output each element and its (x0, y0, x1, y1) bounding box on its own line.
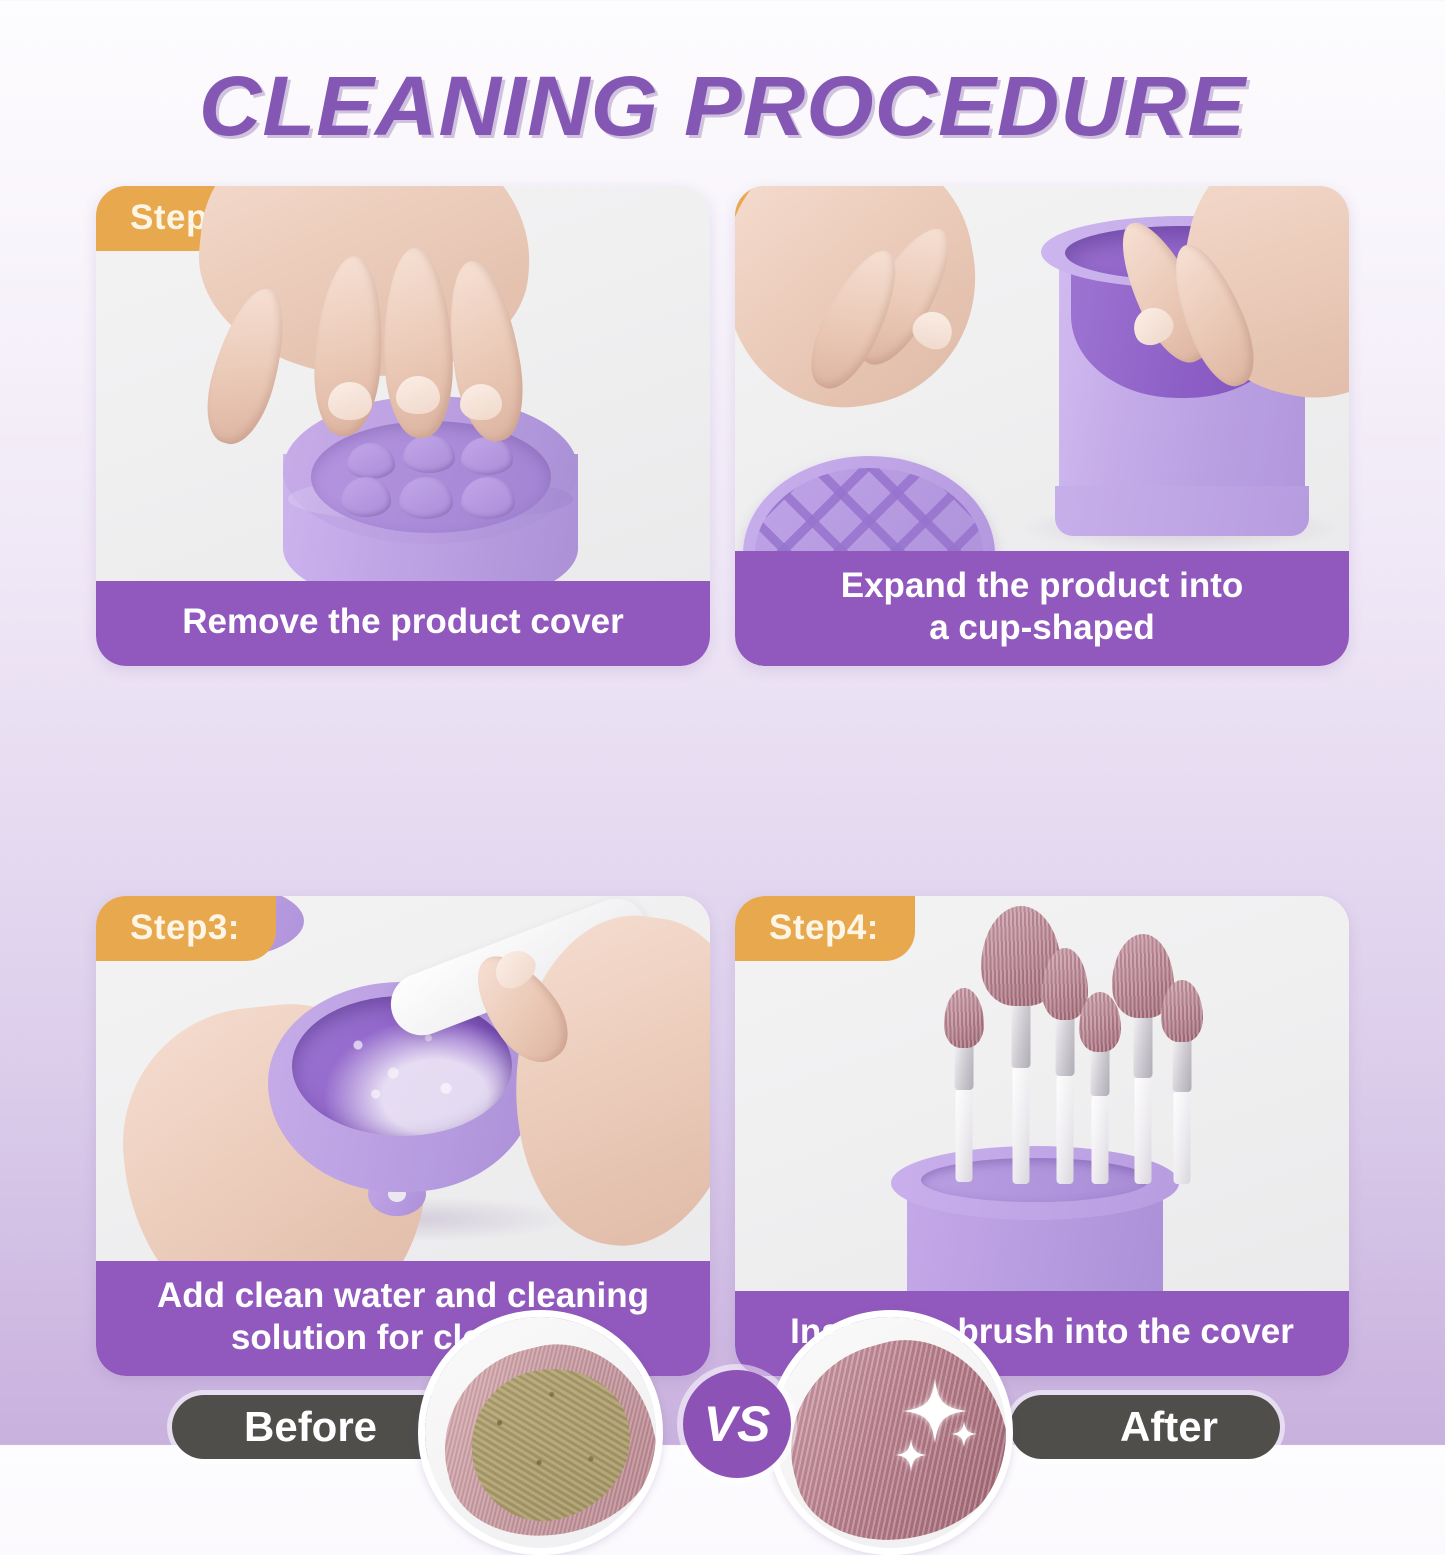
brush (949, 992, 979, 1182)
brush-handle (1013, 1064, 1030, 1184)
after-brush-photo (768, 1310, 1013, 1555)
brush-ferrule (1091, 1046, 1110, 1096)
step-badge-3: Step3: (96, 896, 276, 961)
brush-handle (1092, 1092, 1109, 1184)
caption-line: Expand the product into (753, 565, 1331, 608)
before-after-comparison: Before After VS (0, 655, 1445, 900)
fingernail (328, 382, 372, 420)
sparkle-icon-small (895, 1439, 927, 1471)
step-card-4: Step4: Insert the brush into the cover (735, 896, 1349, 1376)
lid-pod (341, 477, 391, 517)
after-label-pill: After (1010, 1395, 1280, 1459)
step-card-2: Step2: Expand the product into a cup-sha… (735, 186, 1349, 666)
fingernail (460, 384, 502, 420)
brush-ferrule (955, 1042, 974, 1090)
brush-handle (956, 1086, 973, 1182)
lid-pod (399, 477, 453, 519)
brush-bristles (1161, 980, 1203, 1042)
page-header: CLEANING PROCEDURE (0, 58, 1445, 155)
brush-ferrule (1134, 1012, 1153, 1078)
caption-line: a cup-shaped (753, 607, 1331, 650)
after-label: After (1120, 1403, 1218, 1451)
brush (1119, 940, 1167, 1184)
cup-lid (311, 421, 551, 533)
brush (1047, 954, 1083, 1184)
brush (991, 904, 1051, 1184)
fingernail (396, 376, 440, 414)
brush-ferrule (1173, 1036, 1192, 1092)
before-brush-photo (418, 1310, 663, 1555)
step-card-1: Step1: Remove the product cover (96, 186, 710, 666)
step-badge-4: Step4: (735, 896, 915, 961)
lid-pod (347, 443, 395, 479)
caption-line: Add clean water and cleaning (114, 1275, 692, 1318)
brush-handle (1135, 1074, 1152, 1184)
step-caption-1: Remove the product cover (96, 581, 710, 666)
page-title: CLEANING PROCEDURE (0, 58, 1445, 155)
lid-pod (461, 437, 513, 475)
brush-ferrule (1012, 996, 1031, 1068)
step-card-3: Step3: Add clean water and cleaning solu… (96, 896, 710, 1376)
lid-pod (461, 477, 515, 519)
cup-foot (1055, 486, 1309, 536)
brush-bristles (944, 988, 984, 1048)
brush-ferrule (1056, 1014, 1075, 1076)
step-caption-2: Expand the product into a cup-shaped (735, 551, 1349, 666)
brush-handle (1174, 1088, 1191, 1184)
brush (1165, 986, 1199, 1184)
vs-badge: VS (683, 1370, 791, 1478)
sparkle-icon-small (951, 1421, 977, 1447)
before-label: Before (244, 1403, 377, 1451)
brush (1083, 998, 1117, 1184)
lid-pod (403, 435, 455, 473)
brush-handle (1057, 1072, 1074, 1184)
